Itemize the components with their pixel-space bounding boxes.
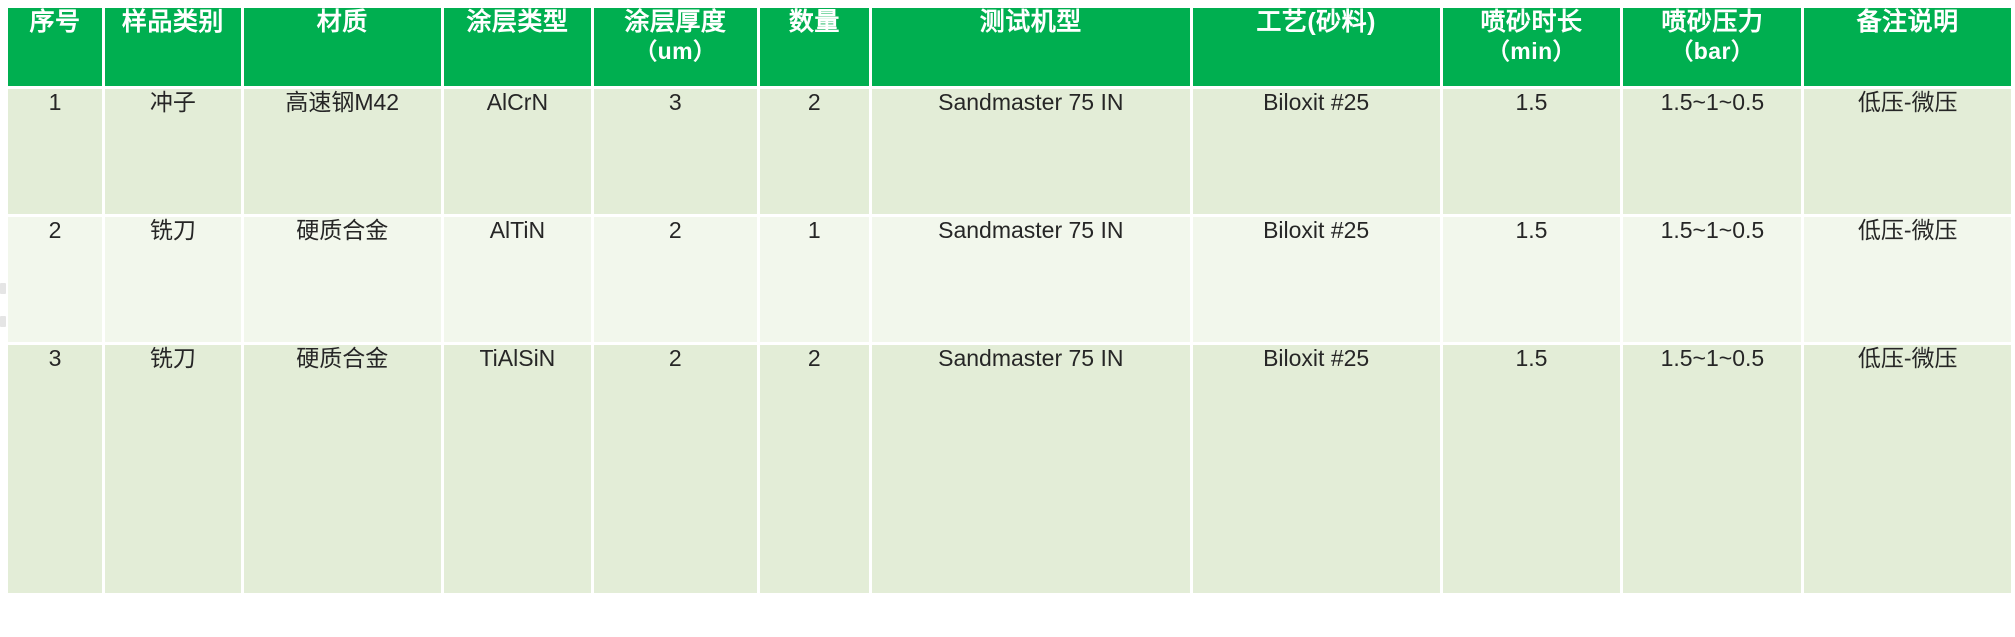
cell-remark: 低压-微压 [1804,89,2011,214]
sample-specification-table: 序号 样品类别 材质 涂层类型 涂层厚度 （um） 数量 [5,5,2014,596]
column-header-blasttime[interactable]: 喷砂时长 （min） [1443,8,1621,86]
cell-remark: 低压-微压 [1804,345,2011,593]
column-header-machine[interactable]: 测试机型 [872,8,1190,86]
table-row[interactable]: 3 铣刀 硬质合金 TiAlSiN 2 2 Sandmaster 75 IN B… [8,345,2011,593]
column-header-material[interactable]: 材质 [244,8,441,86]
cell-process: Biloxit #25 [1193,345,1440,593]
column-header-pressure-label: 喷砂压力 [1661,8,1763,36]
header-row: 序号 样品类别 材质 涂层类型 涂层厚度 （um） 数量 [8,8,2011,86]
column-header-pressure[interactable]: 喷砂压力 （bar） [1623,8,1801,86]
cell-process: Biloxit #25 [1193,89,1440,214]
cell-material: 硬质合金 [244,217,441,342]
cell-remark: 低压-微压 [1804,217,2011,342]
cell-blasttime: 1.5 [1443,345,1621,593]
cell-thickness: 2 [594,217,757,342]
column-header-process[interactable]: 工艺(砂料) [1193,8,1440,86]
column-header-remark[interactable]: 备注说明 [1804,8,2011,86]
column-header-coating[interactable]: 涂层类型 [444,8,591,86]
column-header-thickness-unit: （um） [594,38,757,65]
column-header-machine-label: 测试机型 [980,8,1082,36]
cell-category: 铣刀 [105,345,240,593]
cell-index: 3 [8,345,102,593]
cell-material: 硬质合金 [244,345,441,593]
cell-material: 高速钢M42 [244,89,441,214]
cell-pressure: 1.5~1~0.5 [1623,217,1801,342]
cell-quantity: 2 [760,89,869,214]
column-header-process-label: 工艺(砂料) [1256,8,1376,36]
cell-coating: AlCrN [444,89,591,214]
cell-coating: TiAlSiN [444,345,591,593]
column-header-material-label: 材质 [317,8,368,36]
spec-table-container: 序号 样品类别 材质 涂层类型 涂层厚度 （um） 数量 [0,0,2015,637]
cell-thickness: 2 [594,345,757,593]
cell-quantity: 2 [760,345,869,593]
cell-blasttime: 1.5 [1443,89,1621,214]
cell-process: Biloxit #25 [1193,217,1440,342]
column-header-quantity-label: 数量 [789,8,840,36]
table-header: 序号 样品类别 材质 涂层类型 涂层厚度 （um） 数量 [8,8,2011,86]
cell-coating: AlTiN [444,217,591,342]
column-header-category[interactable]: 样品类别 [105,8,240,86]
cell-blasttime: 1.5 [1443,217,1621,342]
column-header-index[interactable]: 序号 [8,8,102,86]
cell-index: 2 [8,217,102,342]
cell-index: 1 [8,89,102,214]
column-header-blasttime-unit: （min） [1443,38,1621,65]
table-body: 1 冲子 高速钢M42 AlCrN 3 2 Sandmaster 75 IN B… [8,89,2011,593]
table-row[interactable]: 1 冲子 高速钢M42 AlCrN 3 2 Sandmaster 75 IN B… [8,89,2011,214]
cell-pressure: 1.5~1~0.5 [1623,89,1801,214]
column-header-thickness-label: 涂层厚度 [624,8,726,36]
cell-machine: Sandmaster 75 IN [872,217,1190,342]
cell-thickness: 3 [594,89,757,214]
cell-pressure: 1.5~1~0.5 [1623,345,1801,593]
cell-machine: Sandmaster 75 IN [872,345,1190,593]
column-header-remark-label: 备注说明 [1857,8,1959,36]
column-header-coating-label: 涂层类型 [466,8,568,36]
column-header-category-label: 样品类别 [122,8,224,36]
cell-category: 冲子 [105,89,240,214]
column-header-thickness[interactable]: 涂层厚度 （um） [594,8,757,86]
table-row[interactable]: 2 铣刀 硬质合金 AlTiN 2 1 Sandmaster 75 IN Bil… [8,217,2011,342]
cell-category: 铣刀 [105,217,240,342]
cell-quantity: 1 [760,217,869,342]
cell-machine: Sandmaster 75 IN [872,89,1190,214]
column-header-quantity[interactable]: 数量 [760,8,869,86]
column-header-index-label: 序号 [30,8,81,36]
column-header-pressure-unit: （bar） [1623,38,1801,65]
column-header-blasttime-label: 喷砂时长 [1480,8,1582,36]
